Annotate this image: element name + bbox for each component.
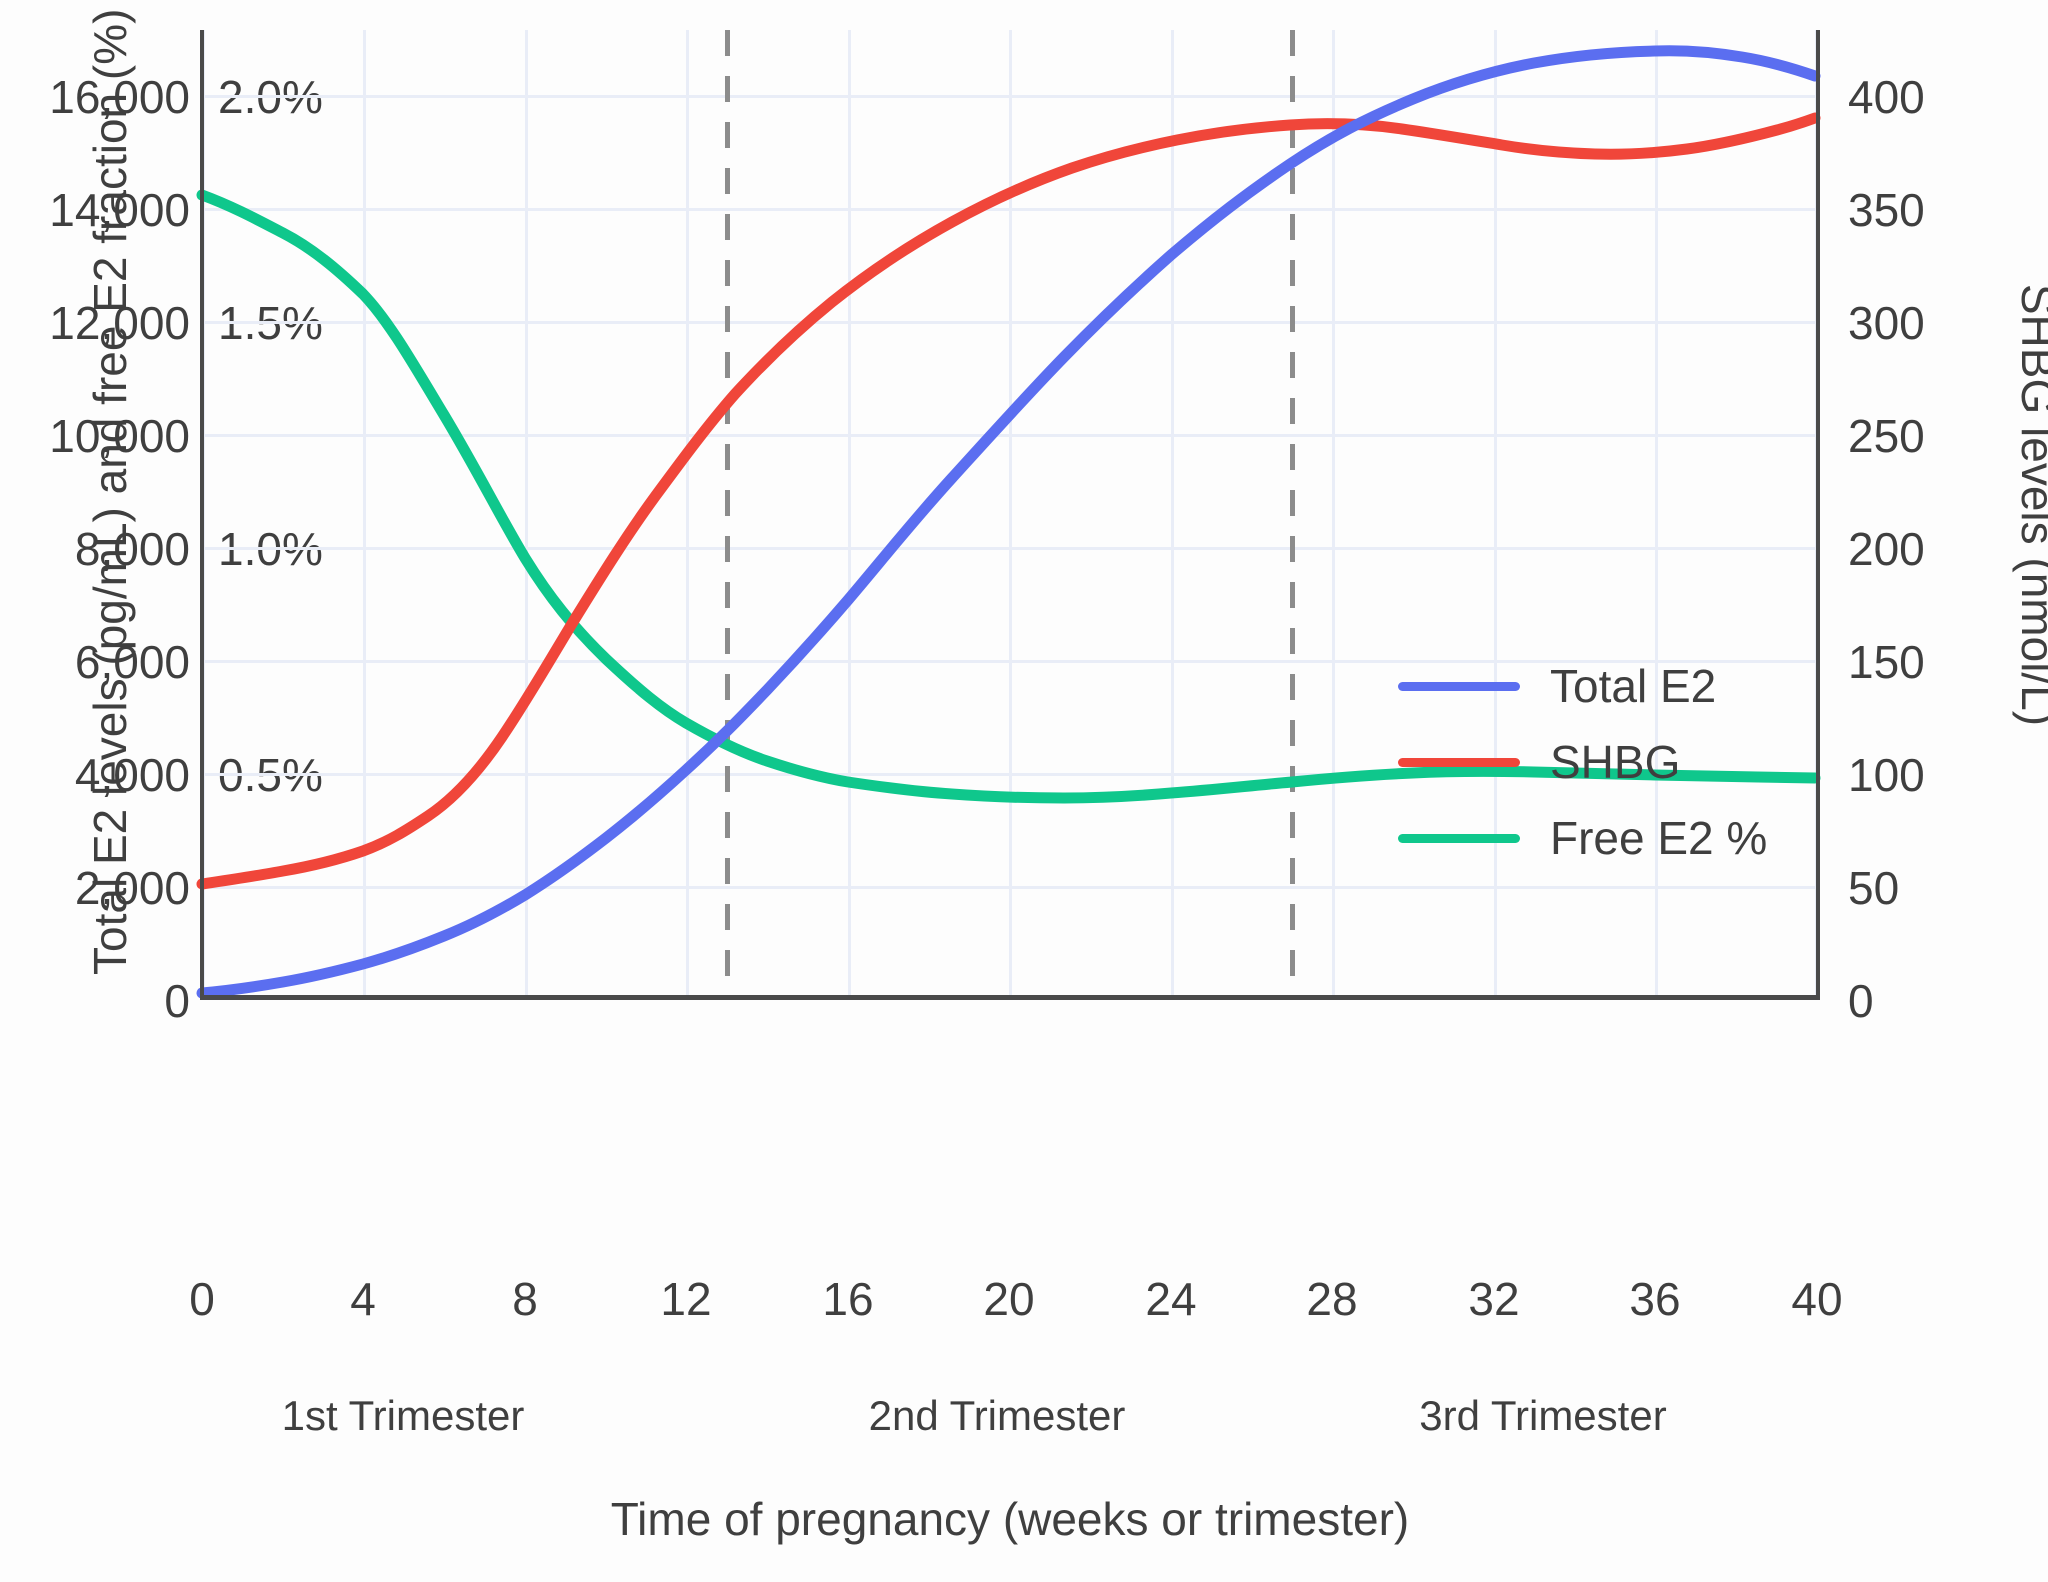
- legend-label-free-e2: Free E2 %: [1550, 811, 1767, 865]
- y-right-tick-label: 50: [1848, 861, 2038, 915]
- y-left-tick-label: 4,000: [0, 748, 190, 802]
- y-left-tick-label: 16,000: [0, 70, 190, 124]
- x-tick-label: 16: [768, 1272, 928, 1326]
- y-left-tick-label: 14,000: [0, 183, 190, 237]
- x-tick-label: 4: [283, 1272, 443, 1326]
- x-tick-label: 32: [1414, 1272, 1574, 1326]
- legend-item-total-e2[interactable]: Total E2: [1398, 648, 1788, 724]
- x-tick-label: 8: [445, 1272, 605, 1326]
- legend-line-swatch-free-e2: [1398, 834, 1520, 843]
- y-axis-right-title: SHBG levels (nmol/L): [2011, 35, 2048, 975]
- trimester-label-3: 3rd Trimester: [1333, 1392, 1753, 1440]
- legend-item-shbg[interactable]: SHBG: [1398, 724, 1788, 800]
- trimester-label-2: 2nd Trimester: [787, 1392, 1207, 1440]
- x-tick-label: 0: [122, 1272, 282, 1326]
- y-right-tick-label: 350: [1848, 183, 2038, 237]
- y-right-tick-label: 200: [1848, 522, 2038, 576]
- y-right-tick-label: 0: [1848, 974, 2038, 1028]
- legend-label-shbg: SHBG: [1550, 735, 1680, 789]
- chart-canvas: Total E2 levels (pg/mL) and free E2 frac…: [0, 0, 2048, 1582]
- y-left-tick-label: 2,000: [0, 861, 190, 915]
- x-tick-label: 36: [1575, 1272, 1735, 1326]
- y-right-tick-label: 300: [1848, 296, 2038, 350]
- y-left-tick-label: 8,000: [0, 522, 190, 576]
- axis-spine-bottom: [200, 995, 1820, 1000]
- y-left-tick-label: 0: [0, 974, 190, 1028]
- y-left-tick-label: 12,000: [0, 296, 190, 350]
- y-right-tick-label: 250: [1848, 409, 2038, 463]
- x-tick-label: 24: [1091, 1272, 1251, 1326]
- legend-line-swatch-total-e2: [1398, 682, 1520, 691]
- y-axis-left-title: Total E2 levels (pg/mL) and free E2 frac…: [83, 35, 137, 975]
- axis-spine-left: [200, 30, 204, 997]
- x-tick-label: 28: [1252, 1272, 1412, 1326]
- y-right-tick-label: 100: [1848, 748, 2038, 802]
- x-axis-title: Time of pregnancy (weeks or trimester): [202, 1492, 1818, 1546]
- x-tick-label: 20: [929, 1272, 1089, 1326]
- trimester-label-1: 1st Trimester: [193, 1392, 613, 1440]
- x-tick-label: 12: [606, 1272, 766, 1326]
- axis-spine-right: [1816, 30, 1820, 997]
- y-right-tick-label: 150: [1848, 635, 2038, 689]
- y-left-tick-label: 10,000: [0, 409, 190, 463]
- x-tick-label: 40: [1737, 1272, 1897, 1326]
- y-right-tick-label: 400: [1848, 70, 2038, 124]
- legend-line-swatch-shbg: [1398, 758, 1520, 767]
- legend-label-total-e2: Total E2: [1550, 659, 1716, 713]
- legend-item-free-e2[interactable]: Free E2 %: [1398, 800, 1788, 876]
- y-left-tick-label: 6,000: [0, 635, 190, 689]
- chart-legend: Total E2 SHBG Free E2 %: [1398, 648, 1788, 876]
